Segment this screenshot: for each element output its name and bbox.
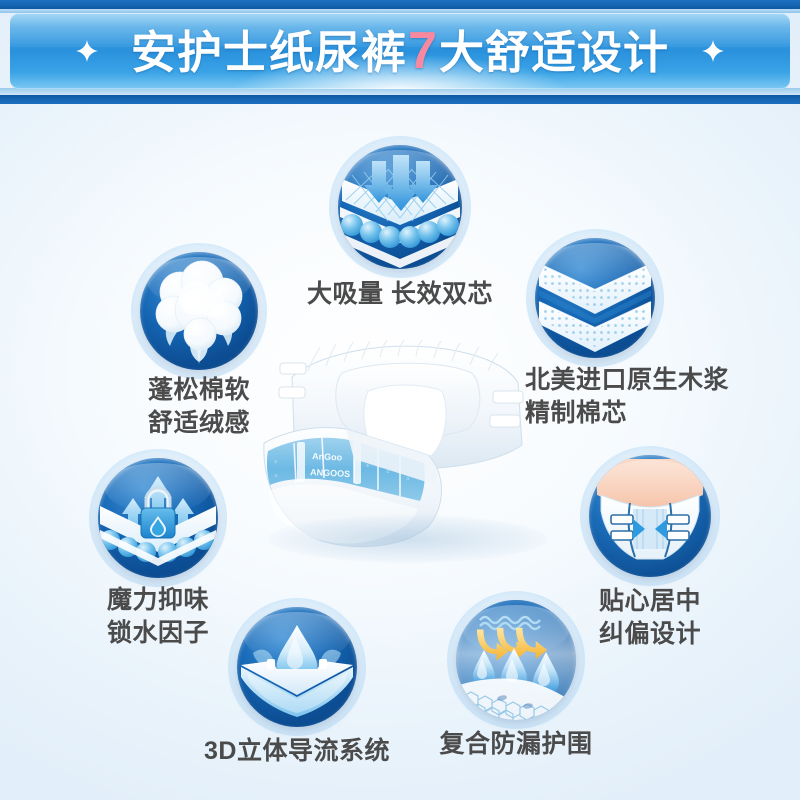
svg-text:②: ② [274,473,278,478]
header-banner: 安护士纸尿裤7大舒适设计 [0,0,800,104]
feature-wood-pulp[interactable]: 北美进口原生木浆 精制棉芯 [535,238,655,358]
label-line: 舒适绒感 [89,407,309,440]
label-line: 3D立体导流系统 [187,735,407,767]
feature-soft-cotton[interactable]: 蓬松棉软 舒适绒感 [140,252,258,370]
leak-guard-drops-icon [456,600,576,720]
label-line: 大吸量 长效双芯 [285,278,515,310]
banner-top-rule [0,0,800,9]
svg-text:ANGOOS: ANGOOS [310,467,350,479]
label-line: 复合防漏护围 [406,728,626,760]
feature-label-absorb-core: 大吸量 长效双芯 [285,278,515,310]
banner-title-prefix: 安护士纸尿裤 [131,27,407,78]
feature-leak-guard[interactable]: 复合防漏护围 [456,600,576,720]
feature-absorb-core[interactable]: 大吸量 长效双芯 [338,145,462,269]
waistband-centering-icon [589,455,711,577]
lock-water-drop-icon [98,458,218,578]
label-line: 北美进口原生木浆 [525,364,785,397]
feature-center-fit[interactable]: 贴心居中 纠偏设计 [589,455,711,577]
feature-label-soft-cotton: 蓬松棉软 舒适绒感 [89,374,309,439]
pulp-sheets-icon [535,238,655,358]
product-shadow [268,515,548,563]
feature-label-leak-guard: 复合防漏护围 [406,728,626,760]
label-line: 精制棉芯 [525,397,785,430]
label-line: 蓬松棉软 [89,374,309,407]
banner-bar: 安护士纸尿裤7大舒适设计 [10,13,790,89]
feature-label-wood-pulp: 北美进口原生木浆 精制棉芯 [525,364,785,429]
svg-text:①: ① [274,459,278,464]
feature-label-3d-flow: 3D立体导流系统 [187,735,407,767]
banner-bottom-rule [0,95,800,104]
diamond-star-ornament-icon-right [702,40,724,62]
water-drop-3d-channel-icon [237,607,357,727]
svg-text:③: ③ [406,476,410,481]
feature-3d-flow[interactable]: 3D立体导流系统 [237,607,357,727]
banner-title-suffix: 大舒适设计 [439,27,669,78]
page-title: 安护士纸尿裤7大舒适设计 [10,25,790,77]
product-infographic-page: 安护士纸尿裤7大舒适设计 [0,0,800,800]
feature-odor-lock[interactable]: 魔力抑味 锁水因子 [98,458,218,578]
cotton-boll-icon [140,252,258,370]
svg-text:AnGoo: AnGoo [312,451,343,463]
banner-title-number: 7 [407,22,439,80]
banner-bottom-highlight [0,88,800,95]
product-image: AnGoo ANGOOS ①② ①②③ [250,325,560,575]
absorption-layers-icon [338,145,462,269]
